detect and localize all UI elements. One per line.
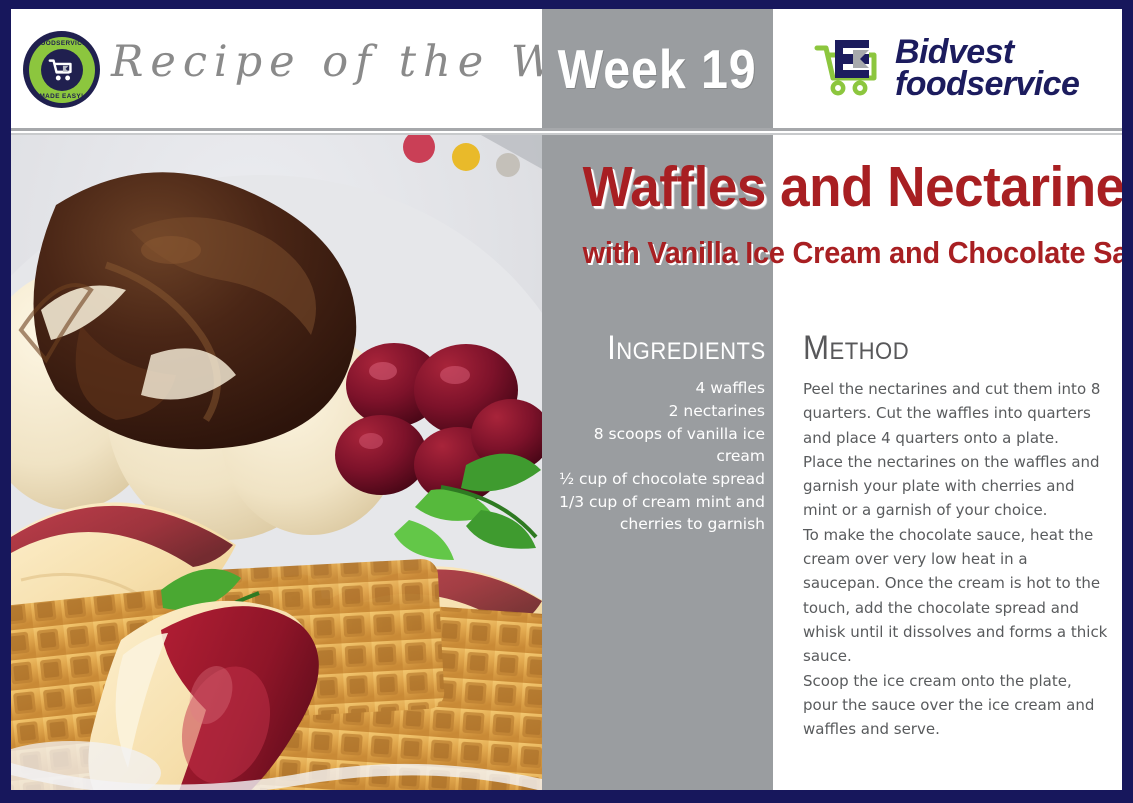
method-body: Peel the nectarines and cut them into 8 … bbox=[803, 377, 1108, 741]
recipe-card: FOODSERVICE MADE EASY! bbox=[0, 0, 1133, 803]
bidvest-wordmark: Bidvest foodservice bbox=[895, 37, 1079, 101]
ingredient-item: 1/3 cup of cream mint and cherries to ga… bbox=[550, 491, 765, 535]
badge-text-bottom: MADE EASY! bbox=[29, 93, 95, 100]
bidvest-cart-b-logo bbox=[813, 36, 891, 102]
week-banner: Week 19 bbox=[542, 9, 773, 128]
ingredient-item: 4 waffles bbox=[550, 377, 765, 399]
recipe-photo bbox=[11, 135, 542, 790]
week-label: Week 19 bbox=[558, 37, 757, 101]
method-paragraph: Peel the nectarines and cut them into 8 … bbox=[803, 377, 1108, 450]
recipe-title: Waffles and Nectarines bbox=[583, 159, 1122, 216]
method-paragraph: Scoop the ice cream onto the plate, pour… bbox=[803, 669, 1108, 742]
header-logo-area: Bidvest foodservice bbox=[773, 9, 1122, 128]
header: FOODSERVICE MADE EASY! bbox=[11, 9, 1122, 128]
recipe-subtitle: with Vanilla Ice Cream and Chocolate Sau… bbox=[583, 237, 1122, 268]
badge-ring: FOODSERVICE MADE EASY! bbox=[29, 37, 95, 103]
header-left: FOODSERVICE MADE EASY! bbox=[11, 9, 542, 128]
card-inner: FOODSERVICE MADE EASY! bbox=[11, 9, 1122, 790]
method-heading: Method bbox=[803, 329, 1079, 368]
header-divider-top bbox=[11, 128, 1122, 131]
ingredient-item: 8 scoops of vanilla ice cream bbox=[550, 423, 765, 467]
ingredient-item: ½ cup of chocolate spread bbox=[550, 468, 765, 490]
foodservice-made-easy-badge: FOODSERVICE MADE EASY! bbox=[23, 31, 100, 108]
method-paragraph: Place the nectarines on the waffles and … bbox=[803, 450, 1108, 523]
method-paragraph: To make the chocolate sauce, heat the cr… bbox=[803, 523, 1108, 669]
badge-text-top: FOODSERVICE bbox=[29, 40, 95, 47]
ingredients-heading: Ingredients bbox=[560, 329, 773, 368]
ingredient-item: 2 nectarines bbox=[550, 400, 765, 422]
bidvest-line1: Bidvest bbox=[895, 37, 1079, 69]
bidvest-line2: foodservice bbox=[895, 69, 1079, 101]
ingredients-list: 4 waffles2 nectarines8 scoops of vanilla… bbox=[542, 377, 773, 536]
bidvest-logo: Bidvest foodservice bbox=[813, 36, 1079, 102]
shopping-cart-icon bbox=[41, 49, 83, 91]
